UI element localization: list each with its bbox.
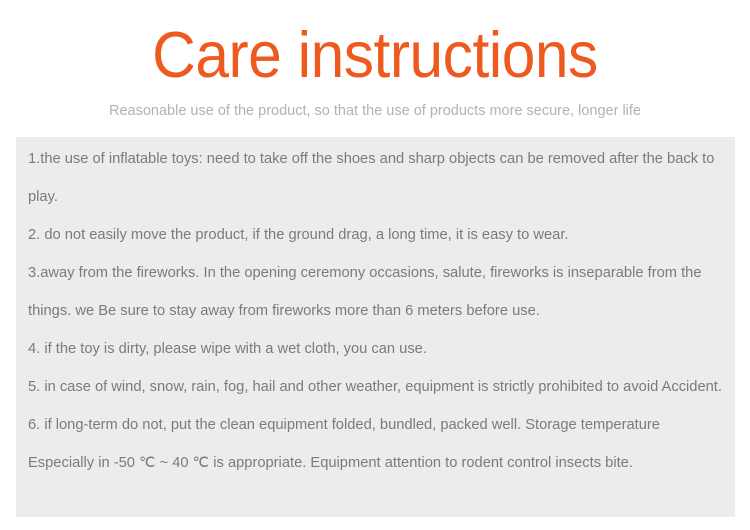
list-item: 2. do not easily move the product, if th… xyxy=(28,216,725,254)
list-item: 6. if long-term do not, put the clean eq… xyxy=(28,406,725,482)
page-title: Care instructions xyxy=(26,22,724,87)
instructions-panel: 1.the use of inflatable toys: need to ta… xyxy=(16,137,735,517)
list-item: 4. if the toy is dirty, please wipe with… xyxy=(28,330,725,368)
care-instructions-page: Care instructions Reasonable use of the … xyxy=(0,0,750,530)
instruction-list: 1.the use of inflatable toys: need to ta… xyxy=(28,140,725,482)
list-item: 5. in case of wind, snow, rain, fog, hai… xyxy=(28,368,725,406)
list-item: 3.away from the fireworks. In the openin… xyxy=(28,254,725,330)
page-subtitle: Reasonable use of the product, so that t… xyxy=(0,101,750,121)
list-item: 1.the use of inflatable toys: need to ta… xyxy=(28,140,725,216)
page-header: Care instructions Reasonable use of the … xyxy=(0,0,750,137)
